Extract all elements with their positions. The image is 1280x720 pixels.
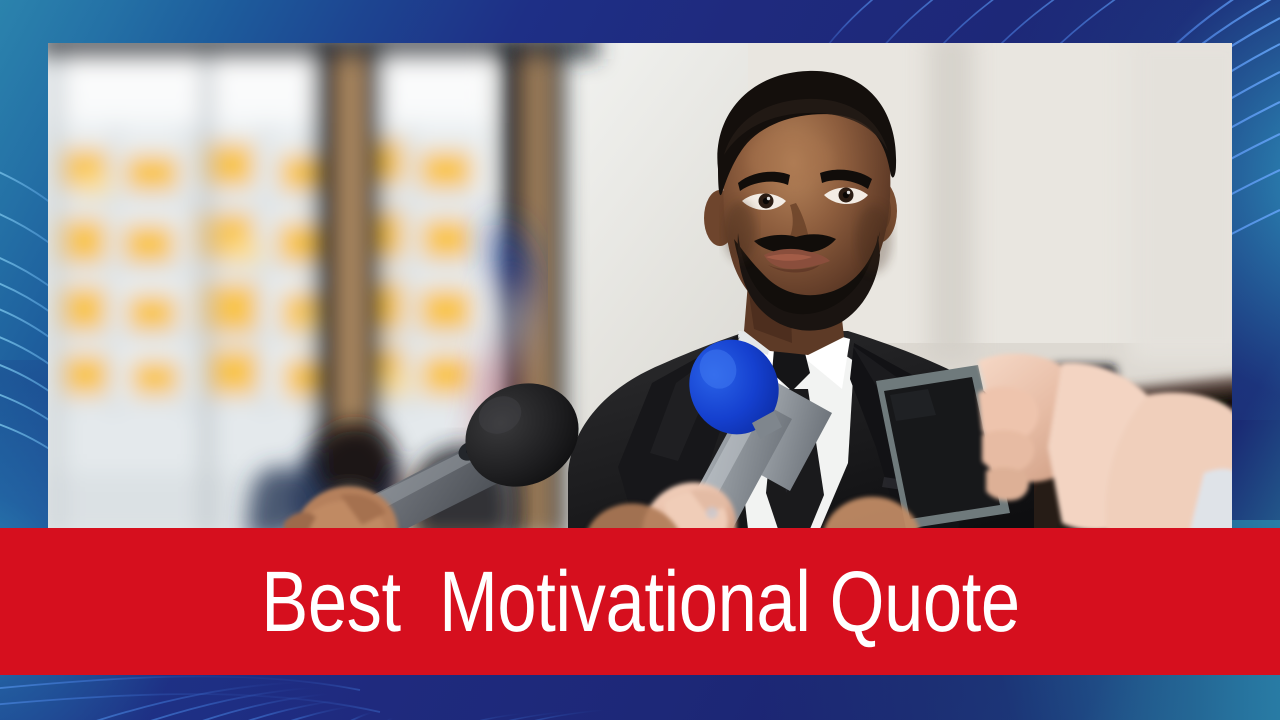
title-banner: Best Motivational Quote (0, 528, 1280, 675)
page-title: Best Motivational Quote (261, 559, 1019, 645)
photo-content (48, 43, 1232, 529)
interview-photo (48, 43, 1232, 529)
poster-canvas: Best Motivational Quote (0, 0, 1280, 720)
